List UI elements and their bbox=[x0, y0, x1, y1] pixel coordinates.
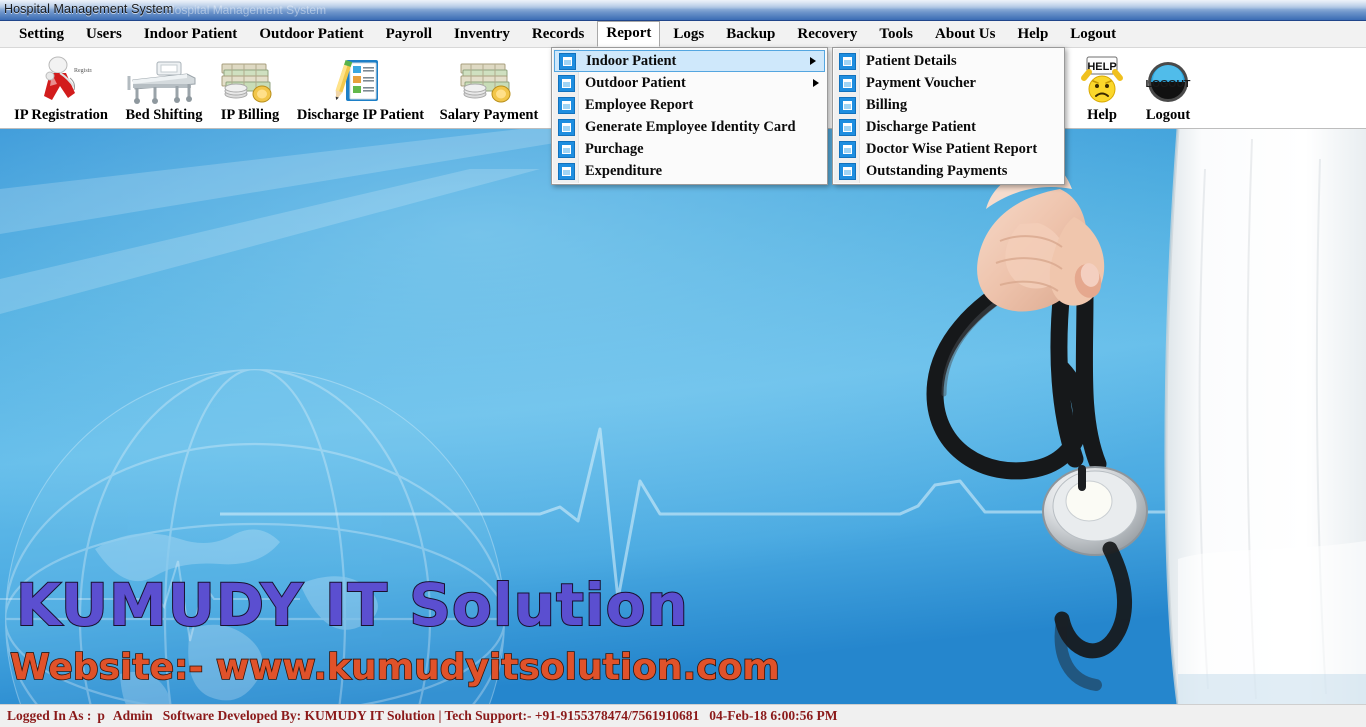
status-bar: Logged In As : p Admin Software Develope… bbox=[0, 704, 1366, 727]
menu-logs[interactable]: Logs bbox=[664, 22, 713, 47]
menu-item-indoor-patient[interactable]: Indoor Patient bbox=[554, 50, 825, 72]
toolbar-label: IP Billing bbox=[221, 107, 279, 124]
menu-item-label: Purchage bbox=[585, 141, 644, 158]
menu-item-label: Payment Voucher bbox=[866, 75, 976, 92]
toolbar-button-discharge-ip-patient[interactable]: Discharge IP Patient bbox=[293, 52, 428, 124]
menu-item-label: Generate Employee Identity Card bbox=[585, 119, 796, 136]
toolbar-button-bed-shifting[interactable]: Bed Shifting bbox=[112, 52, 216, 124]
menu-window-icon bbox=[839, 53, 856, 70]
menu-tools[interactable]: Tools bbox=[870, 22, 922, 47]
menu-users[interactable]: Users bbox=[77, 22, 131, 47]
status-developer-info: Software Developed By: KUMUDY IT Solutio… bbox=[153, 709, 700, 723]
menu-window-icon bbox=[839, 97, 856, 114]
menu-records[interactable]: Records bbox=[523, 22, 594, 47]
menu-window-icon bbox=[558, 163, 575, 180]
toolbar-label: Bed Shifting bbox=[126, 107, 203, 124]
toolbar-label: IP Registration bbox=[14, 107, 108, 124]
menu-item-label: Indoor Patient bbox=[586, 53, 676, 70]
menu-setting[interactable]: Setting bbox=[10, 22, 73, 47]
brand-company-name: KUMUDY IT Solution bbox=[16, 571, 689, 639]
toolbar-button-ip-registration[interactable]: Registratin IP Registration bbox=[2, 52, 120, 124]
toolbar-button-help[interactable]: HELP Help bbox=[1068, 52, 1136, 124]
menu-item-payment-voucher[interactable]: Payment Voucher bbox=[833, 72, 1064, 94]
svg-text:Registratin: Registratin bbox=[74, 68, 92, 74]
logout-circle-icon: LOGOUT bbox=[1143, 56, 1193, 104]
menu-payroll[interactable]: Payroll bbox=[377, 22, 441, 47]
menu-item-employee-report[interactable]: Employee Report bbox=[552, 94, 827, 116]
menu-item-label: Patient Details bbox=[866, 53, 957, 70]
toolbar-button-ip-billing[interactable]: IP Billing bbox=[205, 52, 295, 124]
window-title: Hospital Management System bbox=[4, 2, 173, 16]
menu-window-icon bbox=[839, 141, 856, 158]
menu-window-icon bbox=[839, 163, 856, 180]
toolbar-label: Help bbox=[1087, 107, 1117, 124]
status-logged-in-label: Logged In As : bbox=[0, 709, 91, 723]
menu-item-generate-employee-identity-card[interactable]: Generate Employee Identity Card bbox=[552, 116, 827, 138]
menu-window-icon bbox=[839, 119, 856, 136]
menu-indoor-patient[interactable]: Indoor Patient bbox=[135, 22, 246, 47]
menu-item-billing[interactable]: Billing bbox=[833, 94, 1064, 116]
main-background-canvas: KUMUDY IT Solution Website:- www.kumudyi… bbox=[0, 129, 1366, 704]
toolbar-label: Logout bbox=[1146, 107, 1190, 124]
menu-item-label: Expenditure bbox=[585, 163, 662, 180]
menu-window-icon bbox=[559, 53, 576, 70]
toolbar-label: Discharge IP Patient bbox=[297, 107, 424, 124]
money-stack-icon bbox=[451, 56, 527, 104]
menu-item-discharge-patient[interactable]: Discharge Patient bbox=[833, 116, 1064, 138]
menu-window-icon bbox=[558, 75, 575, 92]
menu-outdoor-patient[interactable]: Outdoor Patient bbox=[250, 22, 372, 47]
svg-text:LOGOUT: LOGOUT bbox=[1146, 78, 1191, 90]
money-stack-icon bbox=[212, 56, 288, 104]
menu-item-doctor-wise-patient-report[interactable]: Doctor Wise Patient Report bbox=[833, 138, 1064, 160]
menu-item-expenditure[interactable]: Expenditure bbox=[552, 160, 827, 182]
indoor-patient-submenu: Patient DetailsPayment VoucherBillingDis… bbox=[832, 47, 1065, 185]
menu-window-icon bbox=[558, 141, 575, 158]
menu-item-label: Billing bbox=[866, 97, 907, 114]
menu-item-label: Discharge Patient bbox=[866, 119, 976, 136]
hospital-bed-icon bbox=[125, 56, 203, 104]
status-datetime: 04-Feb-18 6:00:56 PM bbox=[699, 709, 837, 723]
clipboard-document-icon bbox=[330, 56, 392, 104]
menu-window-icon bbox=[839, 75, 856, 92]
application-window: Hospital Management System Hospital Mana… bbox=[0, 0, 1366, 727]
brand-website: Website:- www.kumudyitsolution.com bbox=[10, 647, 780, 688]
menu-item-label: Doctor Wise Patient Report bbox=[866, 141, 1037, 158]
report-dropdown-menu: Indoor PatientOutdoor PatientEmployee Re… bbox=[551, 47, 828, 185]
toolbar-button-logout[interactable]: LOGOUT Logout bbox=[1134, 52, 1202, 124]
menu-report[interactable]: Report bbox=[597, 21, 660, 47]
menu-about-us[interactable]: About Us bbox=[926, 22, 1004, 47]
menu-bar: SettingUsersIndoor PatientOutdoor Patien… bbox=[0, 21, 1366, 48]
menu-recovery[interactable]: Recovery bbox=[788, 22, 866, 47]
patient-registration-icon: Registratin bbox=[30, 56, 92, 104]
submenu-arrow-icon bbox=[813, 79, 819, 87]
help-face-icon: HELP bbox=[1075, 56, 1129, 104]
menu-logout[interactable]: Logout bbox=[1061, 22, 1125, 47]
submenu-arrow-icon bbox=[810, 57, 816, 65]
menu-help[interactable]: Help bbox=[1008, 22, 1057, 47]
menu-backup[interactable]: Backup bbox=[717, 22, 784, 47]
toolbar-label: Salary Payment bbox=[440, 107, 539, 124]
menu-item-label: Outstanding Payments bbox=[866, 163, 1007, 180]
menu-item-outdoor-patient[interactable]: Outdoor Patient bbox=[552, 72, 827, 94]
menu-window-icon bbox=[558, 119, 575, 136]
toolbar-button-salary-payment[interactable]: Salary Payment bbox=[434, 52, 544, 124]
menu-item-label: Outdoor Patient bbox=[585, 75, 686, 92]
status-role: Admin bbox=[105, 709, 153, 723]
title-bar: Hospital Management System Hospital Mana… bbox=[0, 0, 1366, 21]
menu-item-label: Employee Report bbox=[585, 97, 693, 114]
menu-window-icon bbox=[558, 97, 575, 114]
menu-inventry[interactable]: Inventry bbox=[445, 22, 519, 47]
menu-item-patient-details[interactable]: Patient Details bbox=[833, 50, 1064, 72]
status-user: p bbox=[91, 709, 105, 723]
menu-item-outstanding-payments[interactable]: Outstanding Payments bbox=[833, 160, 1064, 182]
menu-item-purchage[interactable]: Purchage bbox=[552, 138, 827, 160]
window-title-ghost: Hospital Management System bbox=[166, 3, 326, 17]
